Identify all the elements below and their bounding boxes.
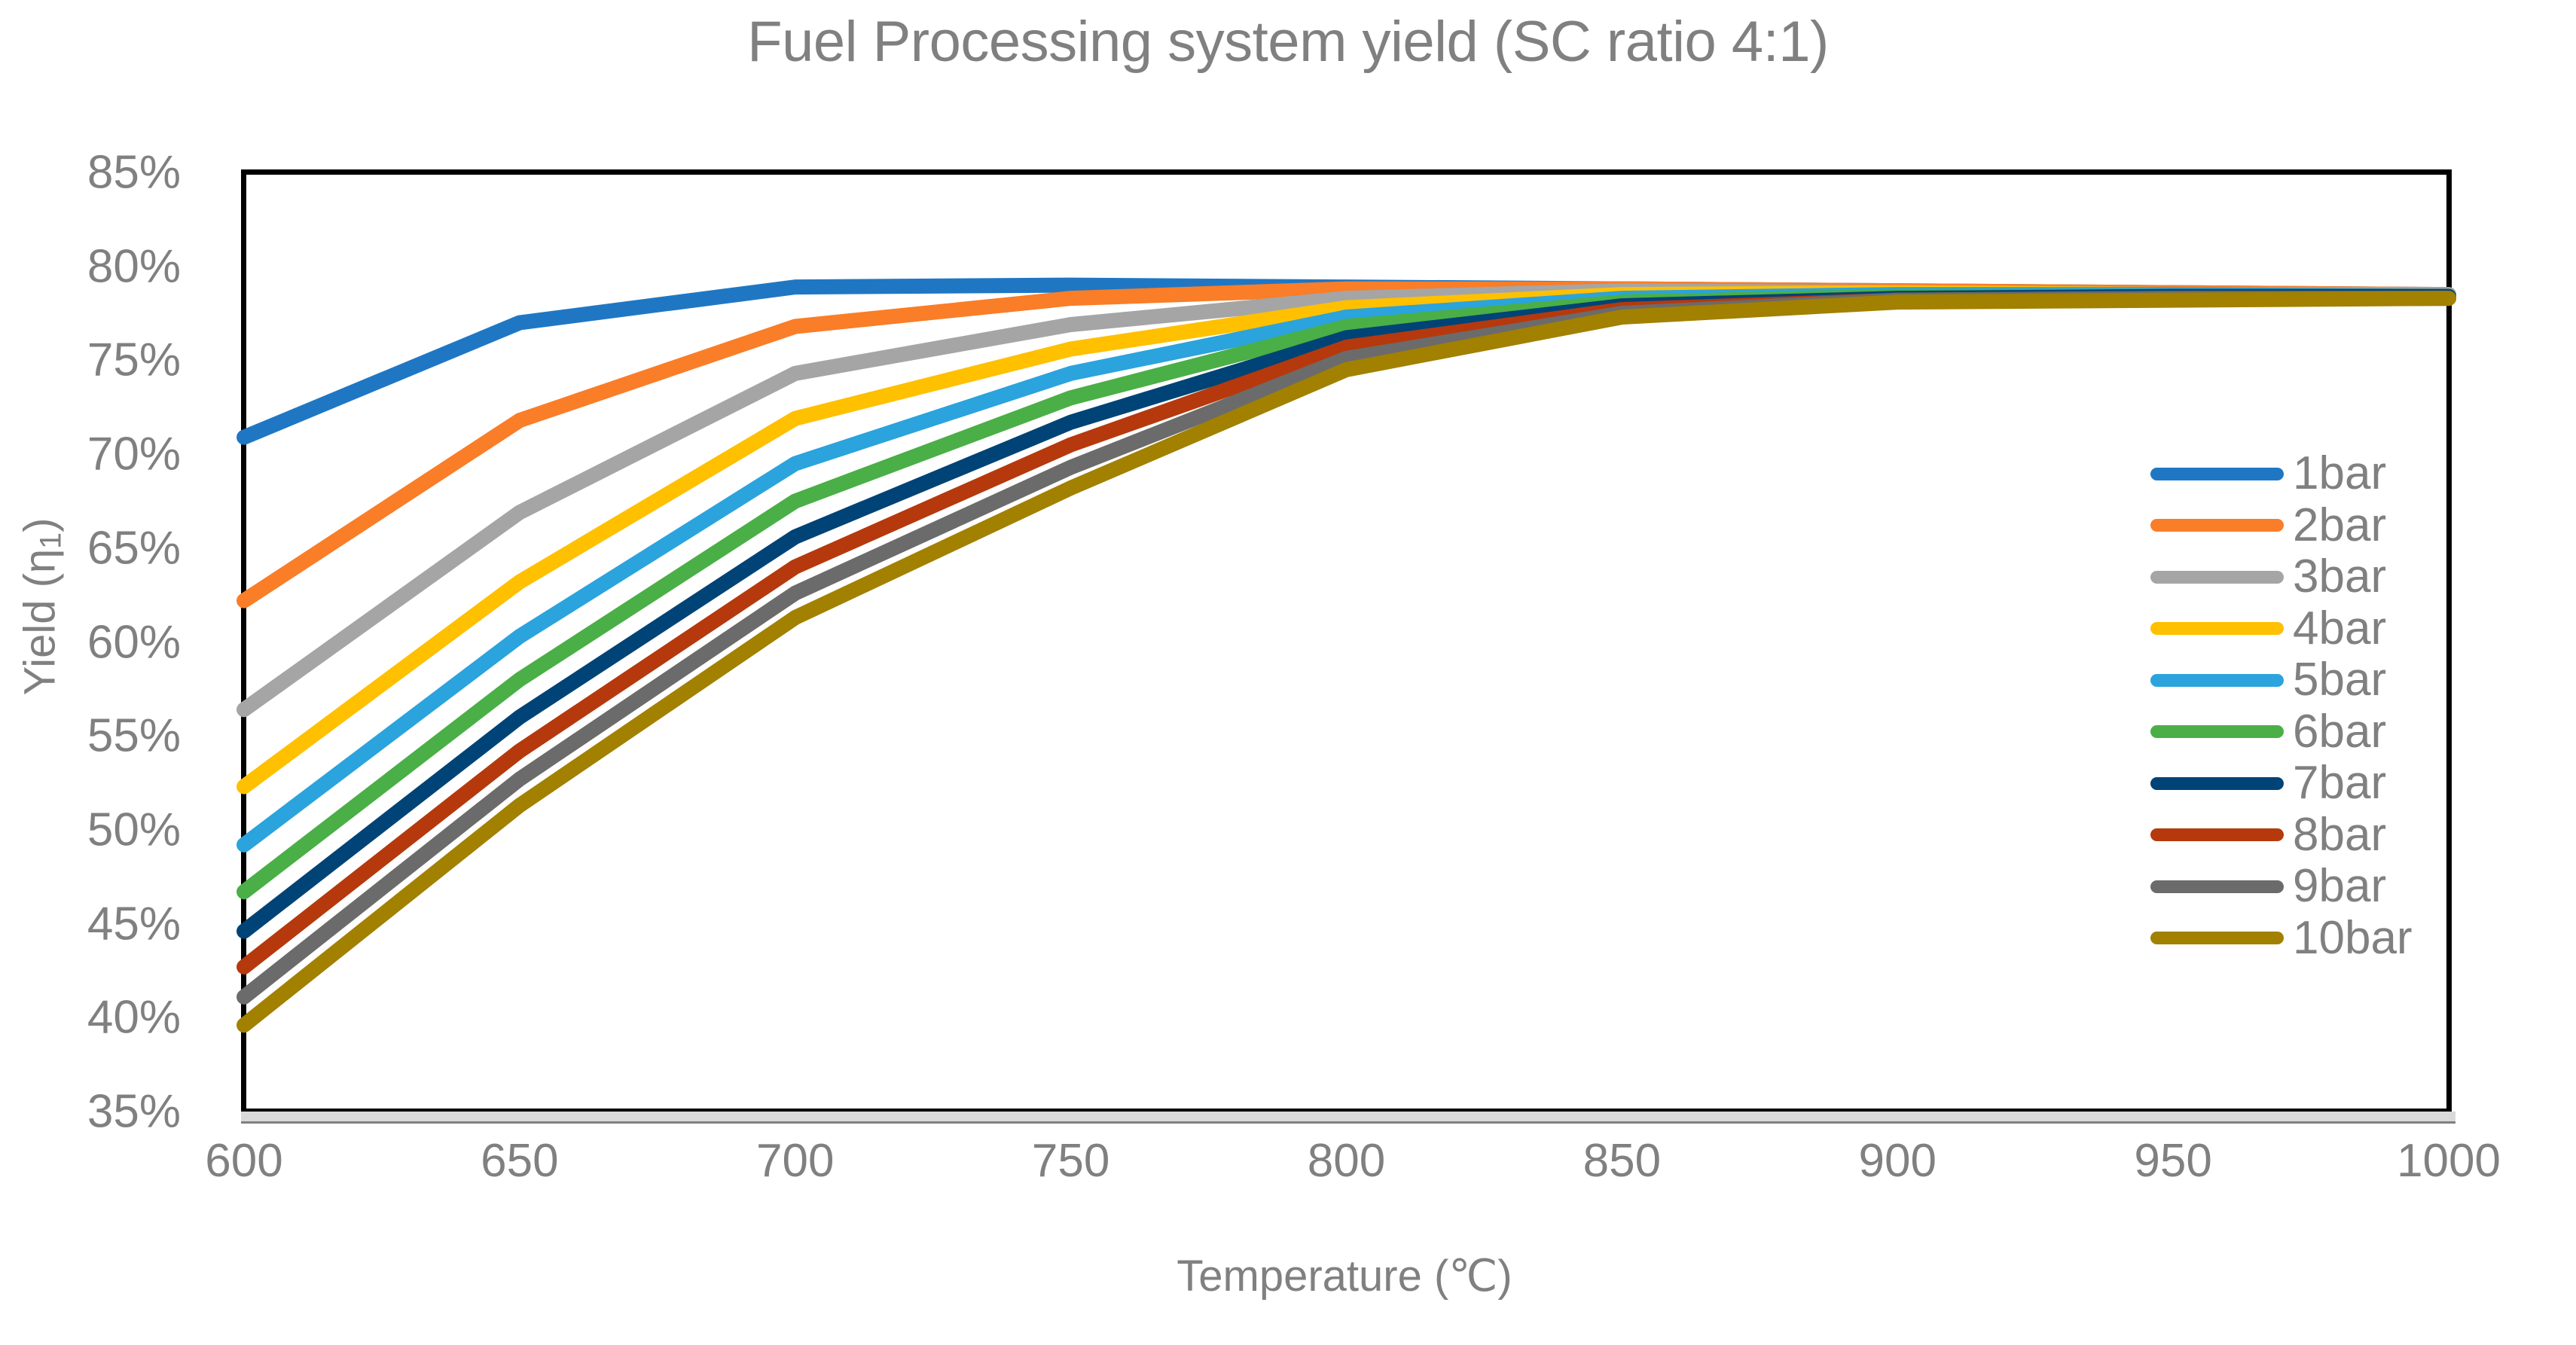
y-axis-tick-label: 75%	[0, 334, 181, 387]
plot-area	[241, 169, 2452, 1114]
x-axis-line	[241, 1112, 2455, 1124]
y-axis-tick-label: 35%	[0, 1085, 181, 1139]
x-axis-tick-label: 700	[697, 1134, 893, 1188]
legend-label-3bar: 3bar	[2293, 554, 2386, 600]
y-axis-tick-label: 40%	[0, 991, 181, 1045]
legend-item-3bar[interactable]: 3bar	[2150, 551, 2504, 603]
legend-swatch-7bar	[2150, 777, 2284, 790]
legend-item-6bar[interactable]: 6bar	[2150, 706, 2504, 758]
x-axis-tick-label: 750	[973, 1134, 1169, 1188]
x-axis-tick-label: 950	[2075, 1134, 2271, 1188]
legend-item-9bar[interactable]: 9bar	[2150, 861, 2504, 913]
y-axis-tick-label: 50%	[0, 803, 181, 856]
x-axis-tick-label: 650	[422, 1134, 618, 1188]
y-axis-tick-label: 55%	[0, 709, 181, 763]
y-axis-tick-label: 70%	[0, 428, 181, 481]
legend-swatch-8bar	[2150, 828, 2284, 841]
chart-container: Fuel Processing system yield (SC ratio 4…	[0, 0, 2576, 1345]
y-axis-tick-label: 65%	[0, 521, 181, 575]
x-axis-tick-label: 600	[146, 1134, 342, 1188]
y-axis-tick-label: 80%	[0, 239, 181, 293]
y-axis-tick-label: 45%	[0, 897, 181, 950]
legend-item-2bar[interactable]: 2bar	[2150, 500, 2504, 552]
x-axis-tick-label: 850	[1524, 1134, 1720, 1188]
legend: 1bar2bar3bar4bar5bar6bar7bar8bar9bar10ba…	[2150, 448, 2504, 964]
chart-title: Fuel Processing system yield (SC ratio 4…	[0, 11, 2576, 74]
legend-label-5bar: 5bar	[2293, 657, 2386, 703]
legend-label-2bar: 2bar	[2293, 502, 2386, 549]
x-axis-tick-label: 1000	[2351, 1134, 2547, 1188]
legend-label-9bar: 9bar	[2293, 863, 2386, 910]
legend-swatch-4bar	[2150, 622, 2284, 635]
legend-item-1bar[interactable]: 1bar	[2150, 448, 2504, 500]
legend-item-4bar[interactable]: 4bar	[2150, 603, 2504, 655]
y-axis-tick-label: 85%	[0, 146, 181, 200]
legend-label-4bar: 4bar	[2293, 605, 2386, 652]
x-axis-tick-label: 900	[1799, 1134, 1995, 1188]
y-axis-tick-label: 60%	[0, 615, 181, 669]
legend-swatch-1bar	[2150, 468, 2284, 480]
legend-swatch-2bar	[2150, 519, 2284, 532]
legend-item-5bar[interactable]: 5bar	[2150, 654, 2504, 706]
legend-label-1bar: 1bar	[2293, 450, 2386, 497]
x-axis-tick-label: 800	[1249, 1134, 1445, 1188]
x-axis-title: Temperature (℃)	[241, 1250, 2448, 1301]
legend-item-10bar[interactable]: 10bar	[2150, 913, 2504, 965]
legend-item-8bar[interactable]: 8bar	[2150, 810, 2504, 862]
legend-label-10bar: 10bar	[2293, 915, 2413, 962]
legend-swatch-10bar	[2150, 932, 2284, 944]
legend-label-8bar: 8bar	[2293, 812, 2386, 859]
legend-swatch-3bar	[2150, 571, 2284, 584]
legend-label-7bar: 7bar	[2293, 760, 2386, 807]
legend-item-7bar[interactable]: 7bar	[2150, 758, 2504, 810]
legend-swatch-5bar	[2150, 674, 2284, 687]
legend-label-6bar: 6bar	[2293, 709, 2386, 755]
legend-swatch-6bar	[2150, 725, 2284, 738]
legend-swatch-9bar	[2150, 880, 2284, 893]
